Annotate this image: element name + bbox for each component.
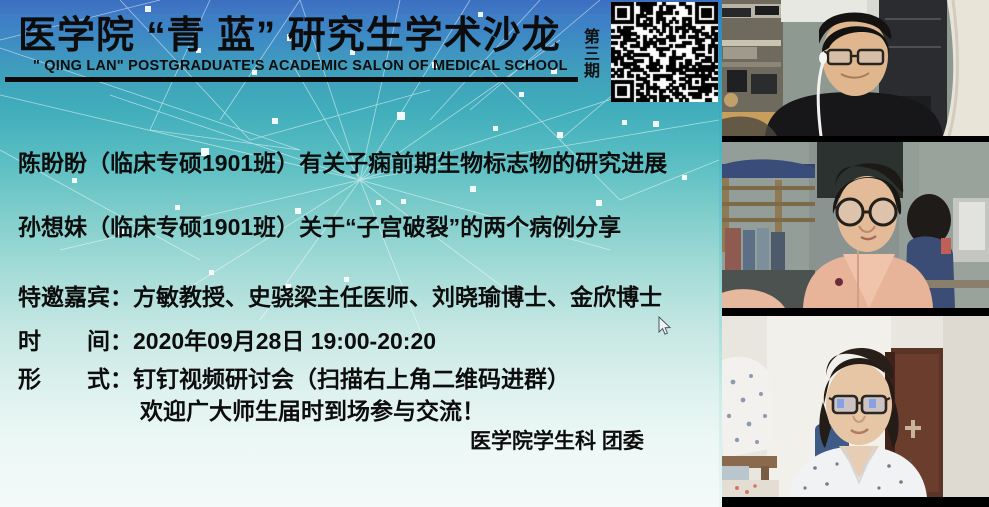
- shared-slide[interactable]: 医学院 “青 蓝” 研究生学术沙龙 " QING LAN" POSTGRADUA…: [0, 0, 719, 507]
- banner-divider-rule: [5, 77, 578, 82]
- format-line: 形 式：钉钉视频研讨会（扫描右上角二维码进群）: [18, 360, 570, 394]
- video-tile-participant-3[interactable]: [719, 316, 989, 497]
- time-line: 时 间：2020年09月28日 19:00-20:20: [18, 322, 436, 356]
- slide-title: 医学院 “青 蓝” 研究生学术沙龙: [18, 14, 561, 58]
- column-seam: [719, 0, 722, 507]
- format-value: 钉钉视频研讨会（扫描右上角二维码进群）: [133, 366, 570, 392]
- time-value: 2020年09月28日 19:00-20:20: [133, 328, 436, 354]
- welcome-line: 欢迎广大师生届时到场参与交流！: [140, 392, 485, 426]
- mouse-pointer-icon: [658, 316, 672, 336]
- guests-value: 方敏教授、史骁梁主任医师、刘晓瑜博士、金欣博士: [133, 284, 662, 310]
- video-feed-2: [719, 142, 989, 308]
- signoff-line: 医学院学生科 团委: [470, 425, 644, 455]
- slide-issue-number: 第三期: [578, 18, 600, 88]
- slide-subtitle-english: " QING LAN" POSTGRADUATE'S ACADEMIC SALO…: [33, 58, 568, 74]
- guests-label: 特邀嘉宾：: [18, 284, 133, 310]
- time-label: 时 间：: [18, 328, 133, 354]
- video-participants-column: [719, 0, 989, 507]
- video-feed-3: [719, 316, 989, 497]
- video-feed-1: [719, 0, 989, 136]
- qr-code[interactable]: [611, 2, 718, 102]
- format-label: 形 式：: [18, 366, 133, 392]
- video-tile-participant-2[interactable]: [719, 142, 989, 308]
- bottom-letterbox-bar: [719, 497, 989, 507]
- talk-item-1: 陈盼盼（临床专硕1901班）有关子痫前期生物标志物的研究进展: [18, 144, 667, 178]
- video-tile-participant-1[interactable]: [719, 0, 989, 136]
- screen-capture: 医学院 “青 蓝” 研究生学术沙龙 " QING LAN" POSTGRADUA…: [0, 0, 989, 507]
- talk-item-2: 孙想妹（临床专硕1901班）关于“子宫破裂”的两个病例分享: [18, 208, 621, 242]
- guests-line: 特邀嘉宾：方敏教授、史骁梁主任医师、刘晓瑜博士、金欣博士: [18, 278, 662, 312]
